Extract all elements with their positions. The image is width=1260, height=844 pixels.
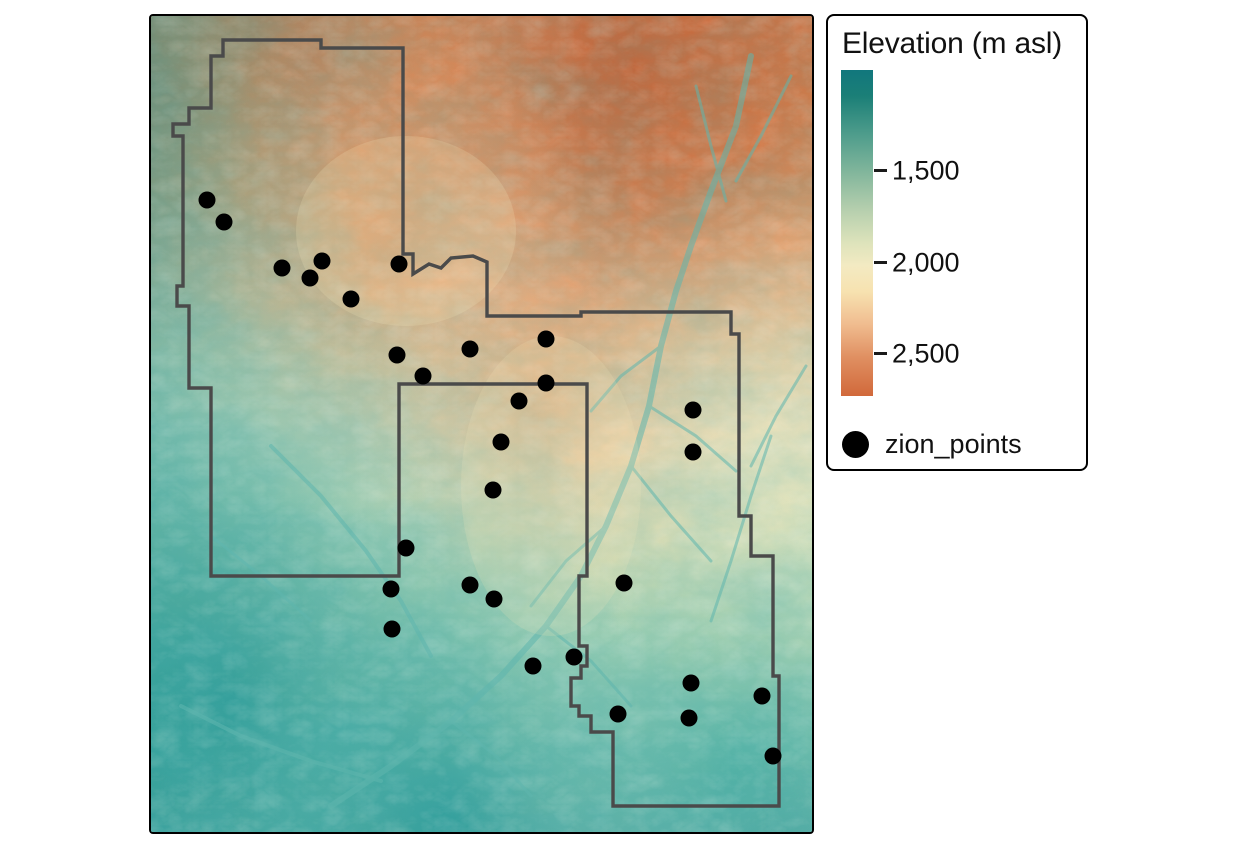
zion-point[interactable] [383, 581, 400, 598]
zion-point[interactable] [685, 402, 702, 419]
zion-point[interactable] [415, 368, 432, 385]
zion-point[interactable] [486, 591, 503, 608]
colorbar-tick-2500 [874, 352, 887, 355]
zion-point[interactable] [343, 291, 360, 308]
zion-point[interactable] [493, 434, 510, 451]
zion-point[interactable] [610, 706, 627, 723]
colorbar-label-2000: 2,000 [892, 248, 960, 279]
zion-point[interactable] [274, 260, 291, 277]
zion-point[interactable] [683, 675, 700, 692]
colorbar-tick-2000 [874, 261, 887, 264]
point-marker-icon [842, 431, 869, 458]
zion-point[interactable] [765, 748, 782, 765]
zion-point[interactable] [681, 710, 698, 727]
zion-point[interactable] [511, 393, 528, 410]
colorbar-tick-1500 [874, 169, 887, 172]
map-canvas[interactable] [151, 16, 812, 832]
legend-key-zion-points[interactable]: zion_points [842, 429, 1022, 460]
map-panel[interactable] [149, 14, 814, 834]
zion-point[interactable] [525, 658, 542, 675]
zion-point[interactable] [462, 577, 479, 594]
zion-point[interactable] [754, 688, 771, 705]
zion-point[interactable] [616, 575, 633, 592]
zion-point[interactable] [216, 214, 233, 231]
zion-point[interactable] [538, 375, 555, 392]
zion-point[interactable] [462, 341, 479, 358]
colorbar[interactable] [841, 70, 873, 396]
zion-point[interactable] [199, 192, 216, 209]
zion-point[interactable] [485, 482, 502, 499]
colorbar-label-1500: 1,500 [892, 156, 960, 187]
zion-point[interactable] [302, 270, 319, 287]
zion-point[interactable] [538, 331, 555, 348]
zion-point[interactable] [391, 256, 408, 273]
legend-key-label: zion_points [885, 429, 1022, 460]
colorbar-gradient [841, 70, 873, 396]
legend-panel[interactable]: Elevation (m asl) [826, 14, 1088, 471]
zion-point[interactable] [398, 540, 415, 557]
zion-point[interactable] [384, 621, 401, 638]
zion-point[interactable] [314, 253, 331, 270]
legend-title: Elevation (m asl) [842, 27, 1062, 61]
zion-point[interactable] [389, 347, 406, 364]
zion-point[interactable] [566, 649, 583, 666]
zion-point[interactable] [685, 444, 702, 461]
elevation-raster [151, 16, 812, 832]
colorbar-label-2500: 2,500 [892, 339, 960, 370]
